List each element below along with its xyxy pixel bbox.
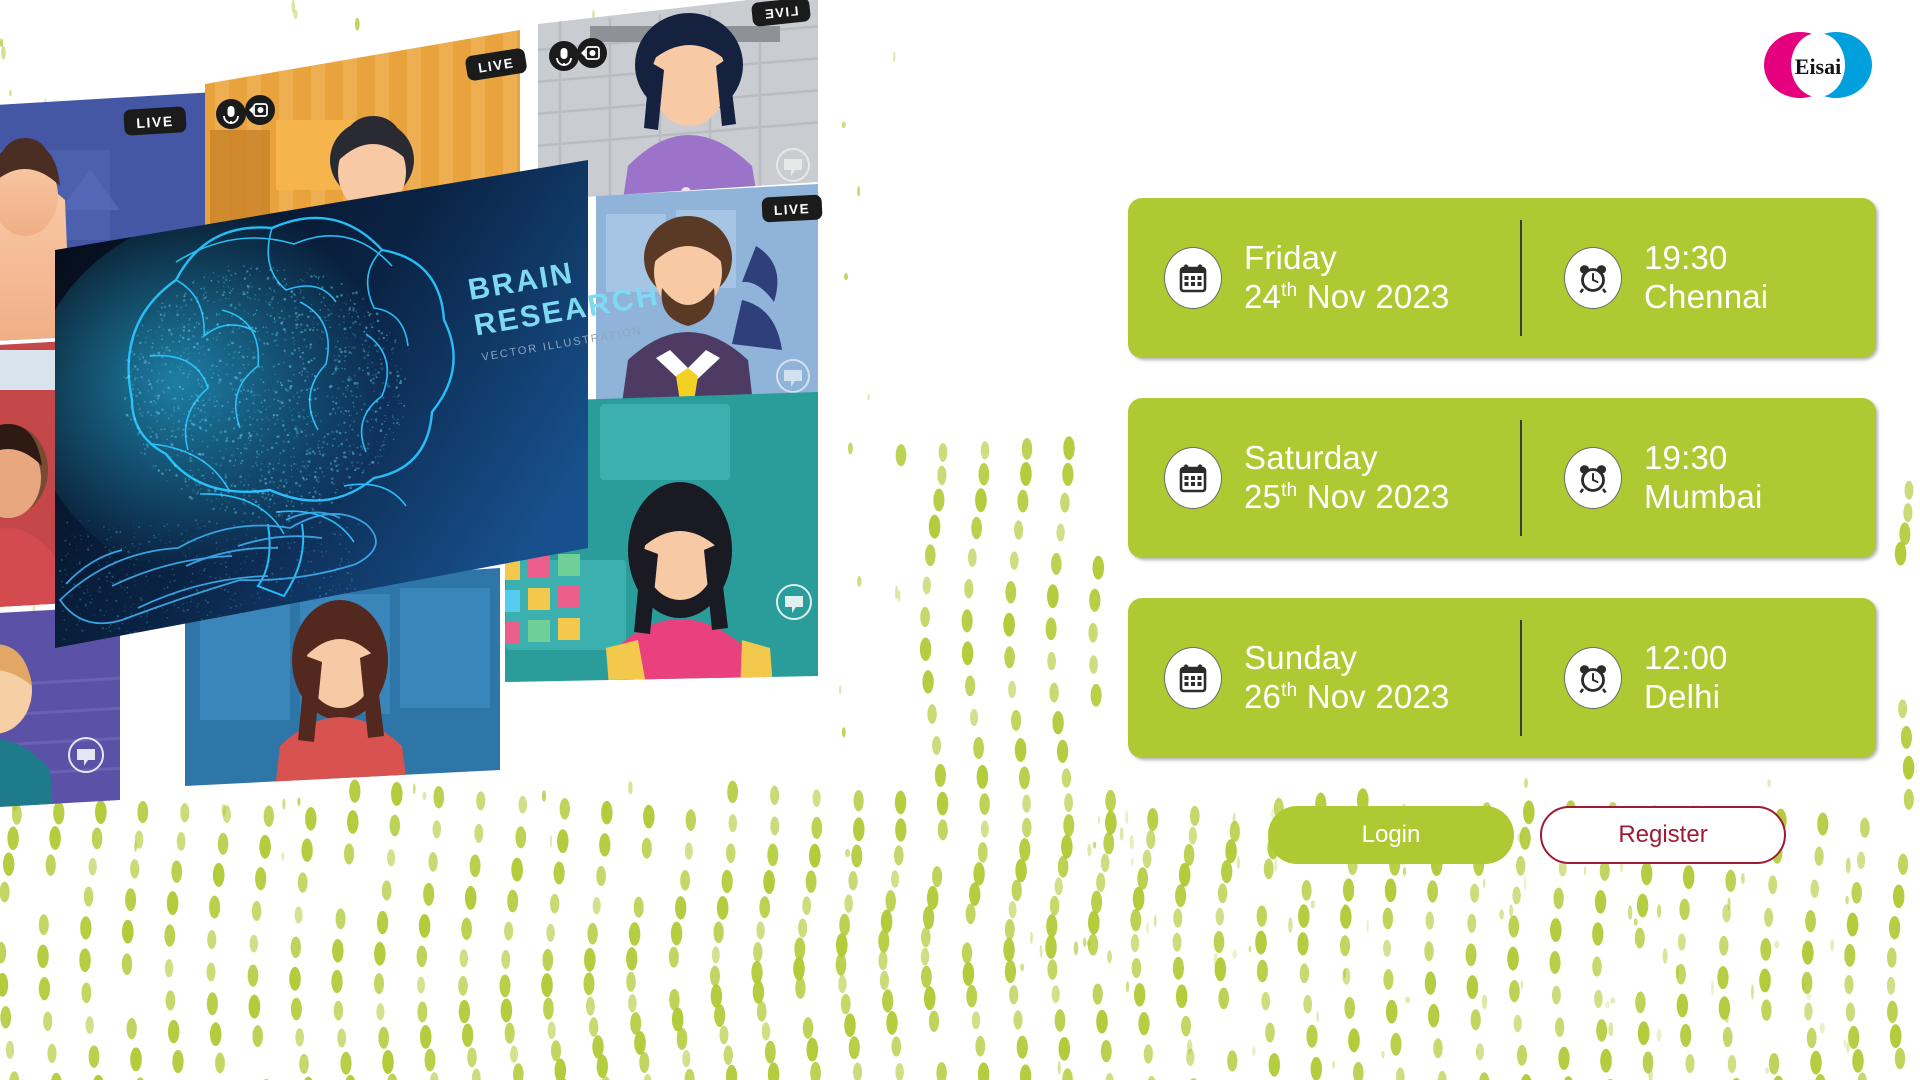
eisai-logo-svg: Eisai [1756,28,1880,102]
schedule-date-text: Sunday 26th Nov 2023 [1244,639,1450,716]
schedule-day: Friday [1244,239,1450,278]
schedule-date-number: 24 [1244,278,1281,315]
alarm-clock-icon [1564,247,1622,309]
login-button[interactable]: Login [1268,806,1514,864]
schedule-card-date-section: Friday 24th Nov 2023 [1128,198,1520,358]
calendar-icon [1164,247,1222,309]
schedule-card-date-section: Saturday 25th Nov 2023 [1128,398,1520,558]
schedule-card-time-section: 19:30 Mumbai [1520,398,1876,558]
schedule-card[interactable]: Saturday 25th Nov 2023 [1128,398,1876,558]
schedule-date-number: 26 [1244,678,1281,715]
live-badge: LIVE [761,194,822,222]
schedule-city: Chennai [1644,278,1768,317]
schedule-date-rest: Nov 2023 [1297,478,1449,515]
schedule-card[interactable]: Friday 24th Nov 2023 [1128,198,1876,358]
schedule-time-text: 19:30 Chennai [1644,239,1768,316]
schedule-time-text: 12:00 Delhi [1644,639,1728,716]
schedule-date-text: Saturday 25th Nov 2023 [1244,439,1450,516]
camera-icon [245,95,275,125]
schedule-day: Saturday [1244,439,1450,478]
schedule-time-text: 19:30 Mumbai [1644,439,1763,516]
register-button[interactable]: Register [1540,806,1786,864]
schedule-card-time-section: 12:00 Delhi [1520,598,1876,758]
schedule-time: 19:30 [1644,439,1763,478]
microphone-icon [216,99,246,129]
card-divider [1520,420,1522,536]
schedule-date-rest: Nov 2023 [1297,278,1449,315]
schedule-card[interactable]: Sunday 26th Nov 2023 [1128,598,1876,758]
live-badge: LIVE [123,106,186,136]
schedule-card-list: Friday 24th Nov 2023 [1128,198,1876,798]
schedule-city: Delhi [1644,678,1728,717]
schedule-date-ordinal: th [1281,280,1297,301]
schedule-date-rest: Nov 2023 [1297,678,1449,715]
schedule-date: 24th Nov 2023 [1244,278,1450,317]
schedule-day: Sunday [1244,639,1450,678]
schedule-time: 19:30 [1644,239,1768,278]
logo-wordmark: Eisai [1795,54,1841,79]
action-button-row: Login Register [1128,806,1876,864]
schedule-date-text: Friday 24th Nov 2023 [1244,239,1450,316]
event-details-panel: Eisai [1128,0,1888,1080]
camera-icon [577,38,607,68]
illustration-svg: LIVE [0,0,1060,900]
schedule-card-time-section: 19:30 Chennai [1520,198,1876,358]
alarm-clock-icon [1564,447,1622,509]
schedule-time: 12:00 [1644,639,1728,678]
schedule-date: 25th Nov 2023 [1244,478,1450,517]
schedule-card-date-section: Sunday 26th Nov 2023 [1128,598,1520,758]
schedule-date-ordinal: th [1281,680,1297,701]
alarm-clock-icon [1564,647,1622,709]
eisai-logo: Eisai [1756,28,1880,102]
schedule-city: Mumbai [1644,478,1763,517]
schedule-date-number: 25 [1244,478,1281,515]
svg-text:LIVE: LIVE [774,201,811,218]
microphone-icon [549,41,579,71]
calendar-icon [1164,447,1222,509]
schedule-date: 26th Nov 2023 [1244,678,1450,717]
schedule-date-ordinal: th [1281,480,1297,501]
card-divider [1520,220,1522,336]
svg-text:LIVE: LIVE [136,113,174,131]
sticky-notes [498,554,580,644]
calendar-icon [1164,647,1222,709]
card-divider [1520,620,1522,736]
video-conference-illustration: LIVE [0,0,1060,900]
